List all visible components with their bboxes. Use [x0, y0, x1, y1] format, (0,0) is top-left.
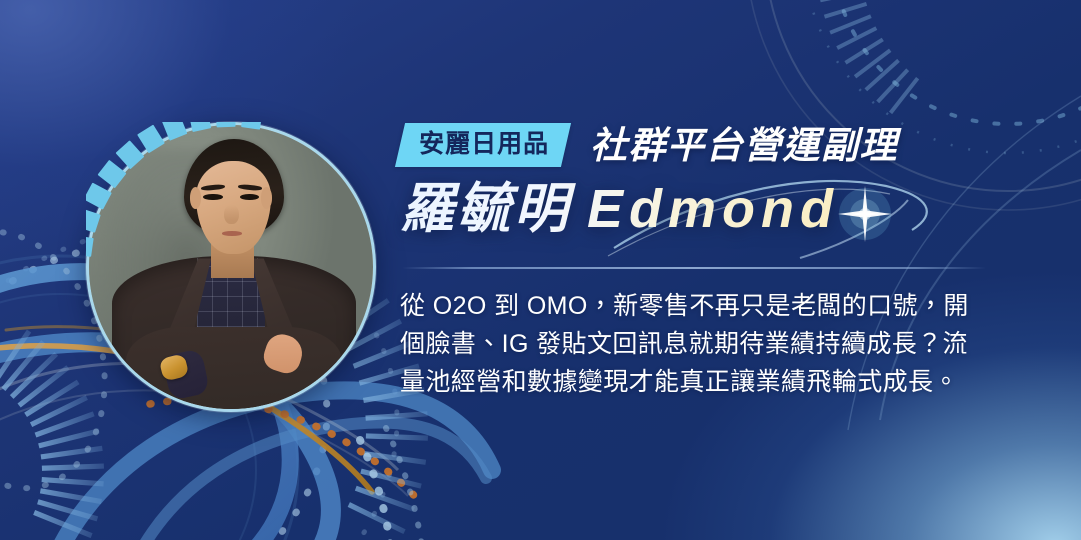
- divider: [402, 267, 986, 269]
- role-title: 社群平台營運副理: [590, 127, 898, 164]
- portrait-tick-marks-icon: [86, 122, 376, 412]
- speaker-description: 從 O2O 到 OMO，新零售不再只是老闆的口號，開個臉書、IG 發貼文回訊息就…: [400, 287, 992, 401]
- company-badge-label: 安麗日用品: [419, 132, 549, 157]
- profile-content: 安麗日用品 社群平台營運副理 羅毓明Edmond 從 O2O 到 OMO，新零售…: [400, 0, 1000, 540]
- speaker-name-cn: 羅毓明: [400, 179, 571, 239]
- speaker-portrait: [86, 122, 376, 412]
- title-row: 安麗日用品 社群平台營運副理: [400, 122, 898, 168]
- speaker-name: 羅毓明Edmond: [400, 178, 839, 240]
- speaker-profile-banner: 安麗日用品 社群平台營運副理 羅毓明Edmond 從 O2O 到 OMO，新零售…: [0, 0, 1081, 540]
- speaker-name-en: Edmond: [587, 179, 839, 239]
- company-badge: 安麗日用品: [395, 123, 571, 167]
